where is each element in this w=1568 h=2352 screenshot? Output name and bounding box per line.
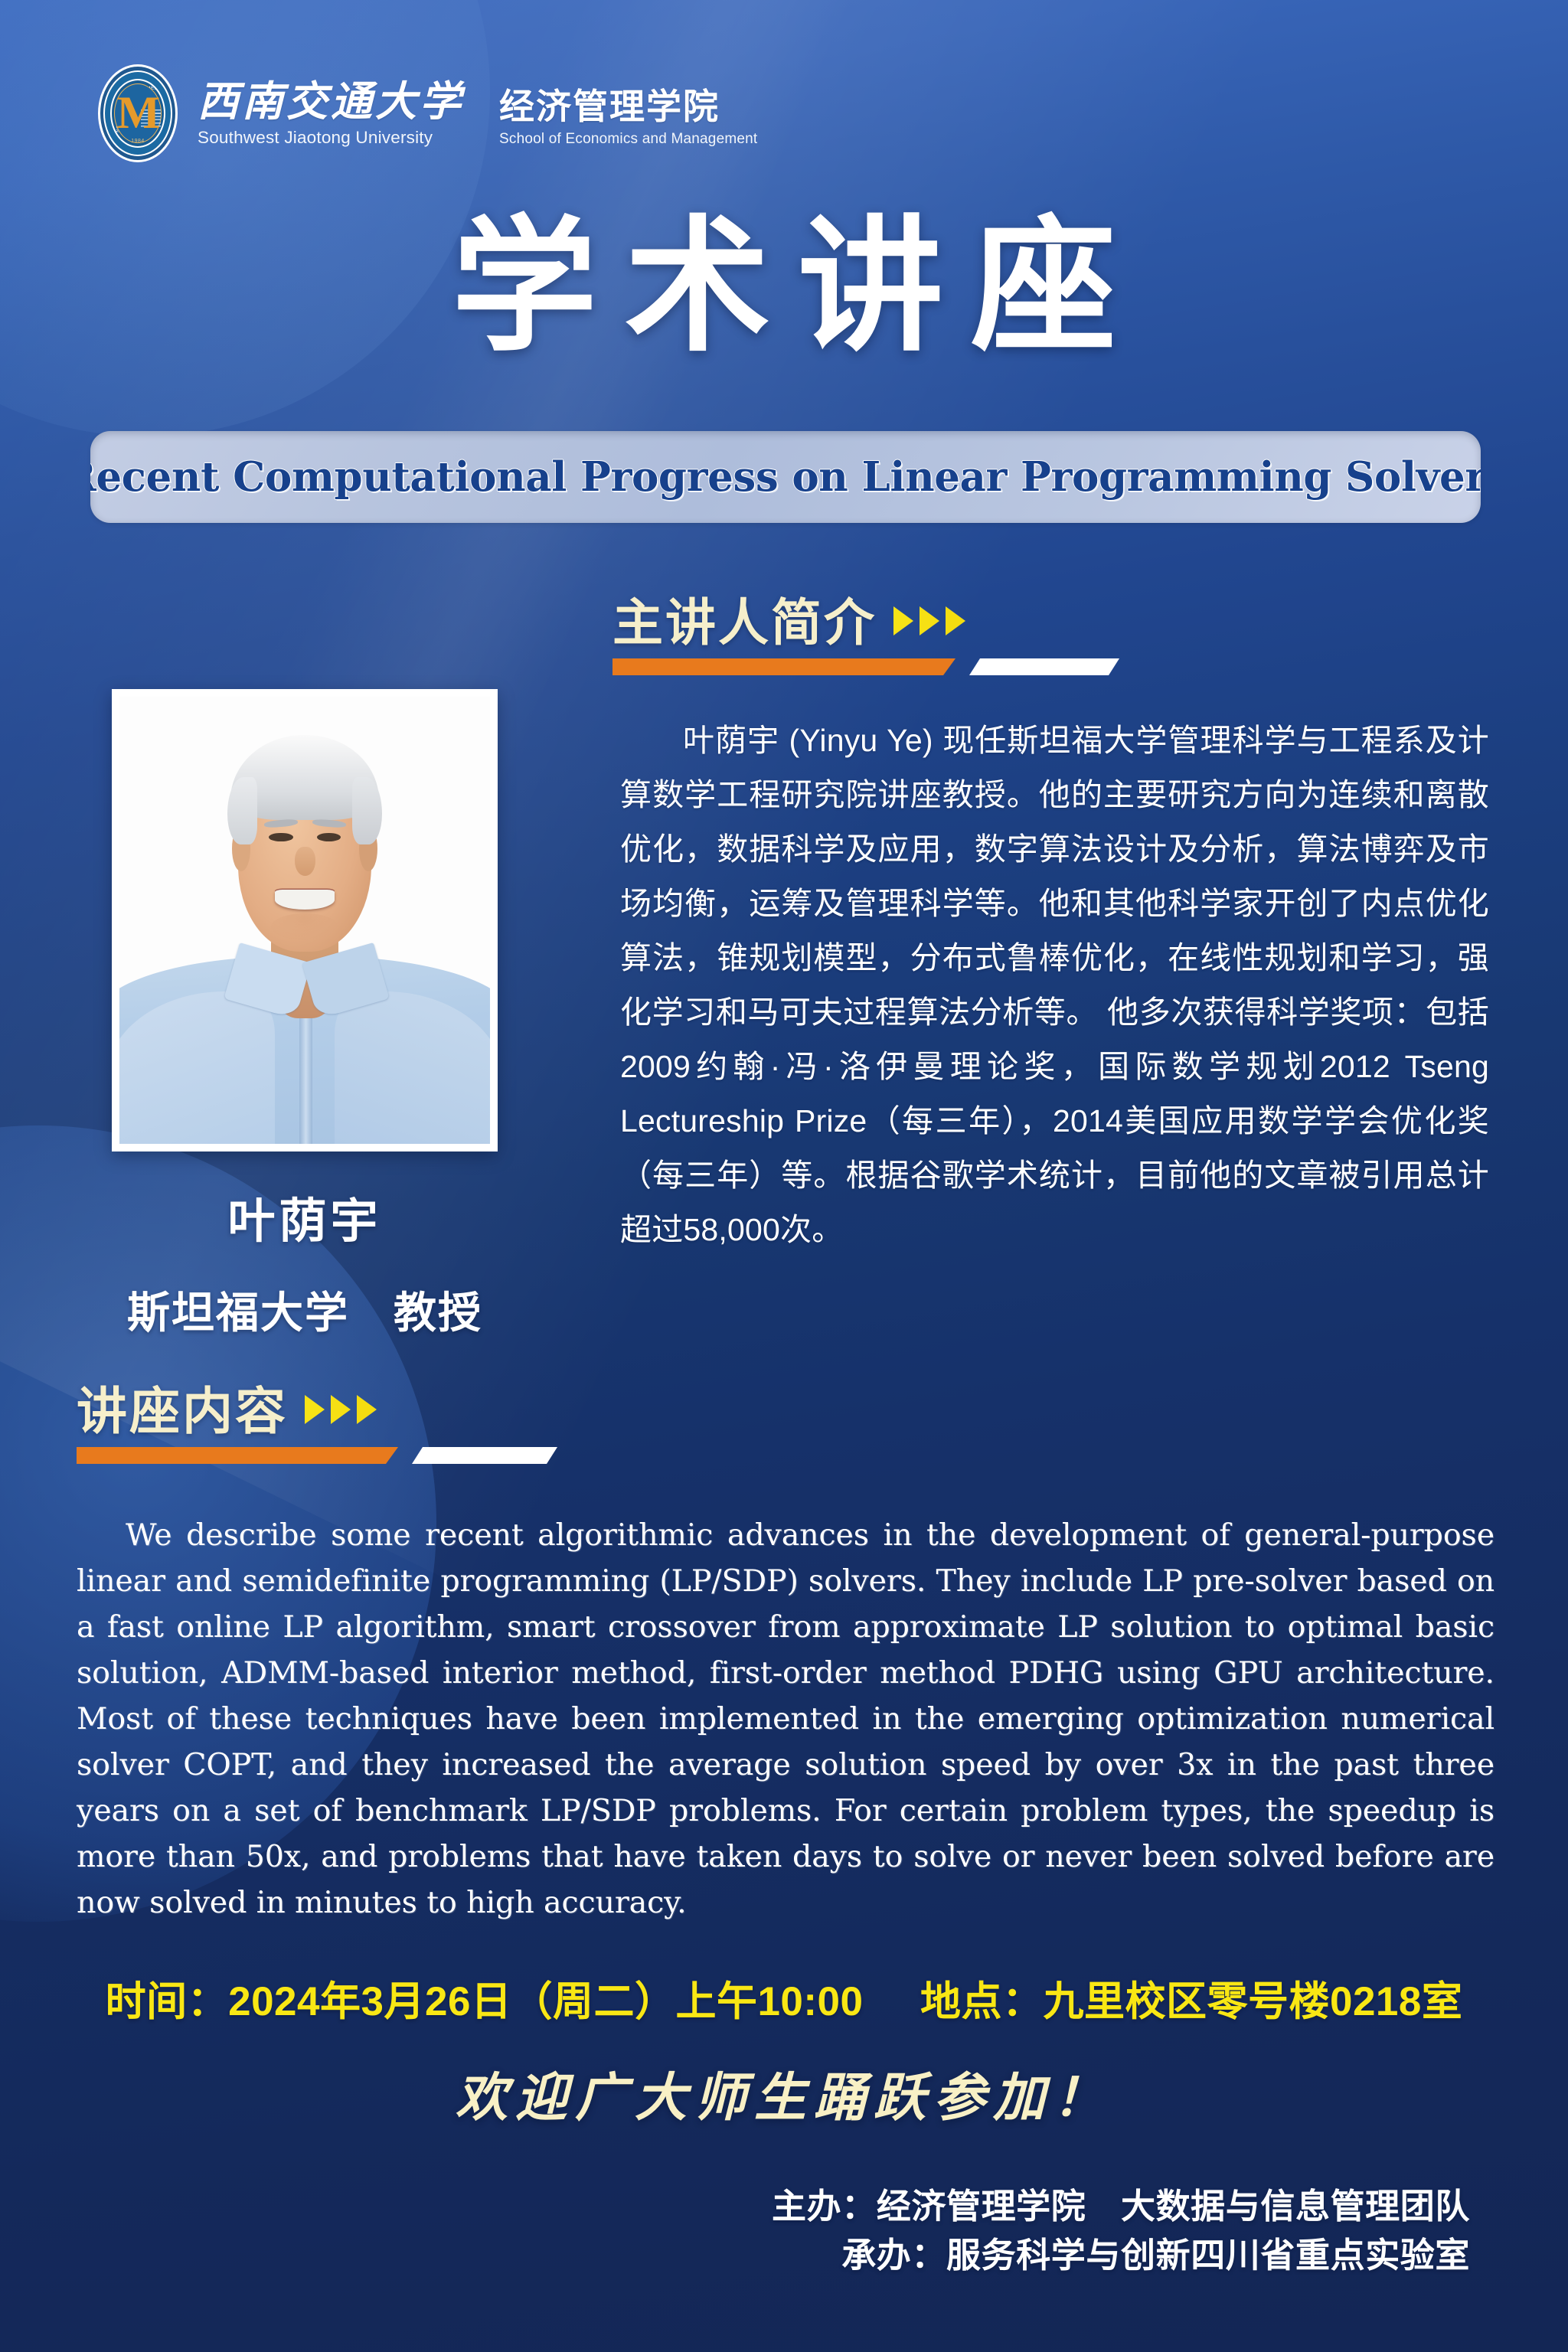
organizer-footer: 主办：经济管理学院 大数据与信息管理团队 承办：服务科学与创新四川省重点实验室 [772, 2182, 1470, 2280]
lecture-title-text: Recent Computational Progress on Linear … [90, 453, 1481, 501]
lecture-abstract-paragraph: We describe some recent algorithmic adva… [77, 1512, 1494, 1926]
speaker-bio-paragraph: 叶荫宇 (Yinyu Ye) 现任斯坦福大学管理科学与工程系及计算数学工程研究院… [620, 714, 1489, 1257]
lecture-title-banner: Recent Computational Progress on Linear … [90, 431, 1481, 523]
content-section-heading: 讲座内容 [77, 1386, 557, 1464]
heading-underline-rules [612, 658, 1119, 675]
heading-underline-rules [77, 1447, 557, 1464]
school-name-cn: 经济管理学院 [499, 88, 757, 126]
seal-monogram: M [117, 90, 159, 136]
main-title-text: 学术讲座 [424, 205, 1144, 368]
school-name-block: 经济管理学院 School of Economics and Managemen… [499, 88, 757, 148]
lecture-venue: 地点：九里校区零号楼0218室 [920, 1979, 1462, 2024]
university-seal-icon: SCHOOL OF ECONOMICS AND MANAGEMENT SOUTH… [98, 64, 178, 162]
white-rule [412, 1447, 557, 1464]
white-rule [969, 658, 1119, 675]
welcome-text: 欢迎广大师生踊跃参加！ [456, 2055, 1112, 2131]
orange-rule [612, 658, 955, 675]
university-name-block: 西南交通大学 Southwest Jiaotong University [198, 79, 464, 148]
speaker-affiliation: 斯坦福大学 教授 [112, 1285, 498, 1341]
speaker-portrait-image [119, 697, 490, 1144]
poster-main-title: 学术讲座 [0, 205, 1568, 368]
logistics-line: 时间：2024年3月26日（周二）上午10:00 地点：九里校区零号楼0218室 [0, 1969, 1568, 2027]
welcome-callout: 欢迎广大师生踊跃参加！ [0, 2055, 1568, 2131]
university-name-cn: 西南交通大学 [198, 79, 464, 123]
organizer-line: 主办：经济管理学院 大数据与信息管理团队 [772, 2182, 1470, 2231]
triple-arrow-icon [893, 606, 965, 635]
seal-year: 1984 [131, 139, 145, 144]
institution-logo-bar: SCHOOL OF ECONOMICS AND MANAGEMENT SOUTH… [98, 64, 757, 162]
speaker-name-block: 叶荫宇 斯坦福大学 教授 [112, 1191, 498, 1341]
speaker-name: 叶荫宇 [112, 1191, 498, 1252]
poster-canvas: SCHOOL OF ECONOMICS AND MANAGEMENT SOUTH… [0, 0, 1568, 2352]
speaker-photo-frame [112, 689, 498, 1151]
speaker-section-heading: 主讲人简介 [612, 597, 1119, 675]
lecture-time: 时间：2024年3月26日（周二）上午10:00 [106, 1979, 864, 2024]
school-name-en: School of Economics and Management [499, 131, 757, 148]
co-organizer-line: 承办：服务科学与创新四川省重点实验室 [772, 2231, 1470, 2280]
content-heading-text: 讲座内容 [77, 1386, 288, 1436]
triple-arrow-icon [305, 1395, 377, 1424]
orange-rule [77, 1447, 398, 1464]
university-name-en: Southwest Jiaotong University [198, 128, 464, 148]
speaker-heading-text: 主讲人简介 [612, 597, 877, 648]
